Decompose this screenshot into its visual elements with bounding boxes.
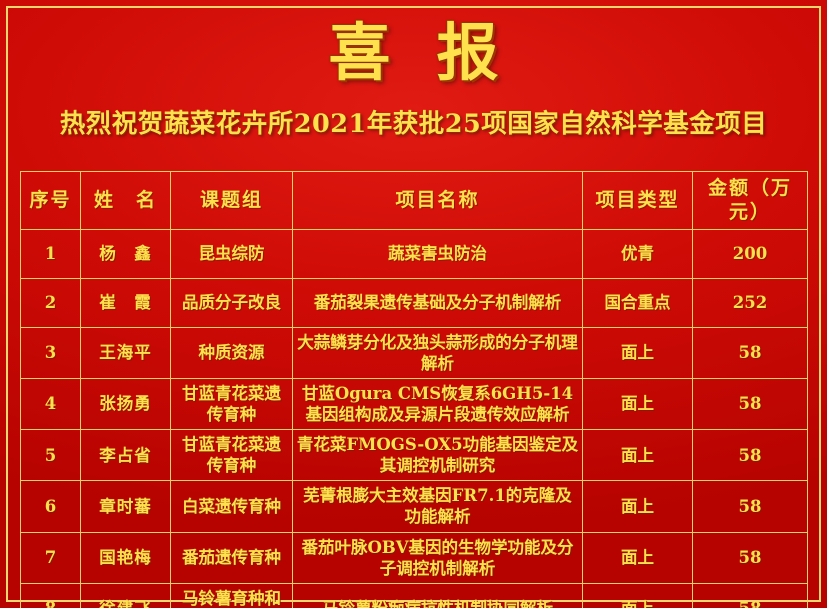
cell-type: 面上 (583, 327, 693, 378)
cell-no: 7 (21, 532, 81, 583)
cell-no: 6 (21, 481, 81, 532)
cell-type: 面上 (583, 430, 693, 481)
table-row: 6 章时蕃 白菜遗传育种 芜菁根膨大主效基因FR7.1的克隆及功能解析 面上 5… (21, 481, 808, 532)
table-row: 3 王海平 种质资源 大蒜鳞芽分化及独头蒜形成的分子机理解析 面上 58 (21, 327, 808, 378)
cell-name: 张扬勇 (81, 378, 171, 429)
cell-name: 崔 霞 (81, 278, 171, 327)
cell-amount: 58 (693, 481, 808, 532)
column-header-project: 项目名称 (293, 172, 583, 230)
page-subtitle: 热烈祝贺蔬菜花卉所2021年获批25项国家自然科学基金项目 (0, 103, 827, 140)
cell-amount: 58 (693, 430, 808, 481)
cell-type: 面上 (583, 583, 693, 608)
cell-type: 优青 (583, 229, 693, 278)
cell-group: 白菜遗传育种 (171, 481, 293, 532)
cell-project: 马铃薯粉痂病抗性机制协同解析 (293, 583, 583, 608)
cell-project: 番茄裂果遗传基础及分子机制解析 (293, 278, 583, 327)
cell-group: 品质分子改良 (171, 278, 293, 327)
table-row: 4 张扬勇 甘蓝青花菜遗传育种 甘蓝Ogura CMS恢复系6GH5-14基因组… (21, 378, 808, 429)
cell-amount: 58 (693, 378, 808, 429)
cell-no: 1 (21, 229, 81, 278)
cell-name: 杨 鑫 (81, 229, 171, 278)
column-header-name: 姓 名 (81, 172, 171, 230)
cell-group: 番茄遗传育种 (171, 532, 293, 583)
cell-no: 8 (21, 583, 81, 608)
cell-type: 国合重点 (583, 278, 693, 327)
table-row: 8 徐建飞 马铃薯育种和栽培 马铃薯粉痂病抗性机制协同解析 面上 58 (21, 583, 808, 608)
cell-project: 大蒜鳞芽分化及独头蒜形成的分子机理解析 (293, 327, 583, 378)
cell-type: 面上 (583, 481, 693, 532)
table-row: 2 崔 霞 品质分子改良 番茄裂果遗传基础及分子机制解析 国合重点 252 (21, 278, 808, 327)
cell-name: 章时蕃 (81, 481, 171, 532)
cell-name: 国艳梅 (81, 532, 171, 583)
cell-group: 甘蓝青花菜遗传育种 (171, 378, 293, 429)
cell-amount: 58 (693, 532, 808, 583)
cell-group: 种质资源 (171, 327, 293, 378)
cell-project: 甘蓝Ogura CMS恢复系6GH5-14基因组构成及异源片段遗传效应解析 (293, 378, 583, 429)
column-header-no: 序号 (21, 172, 81, 230)
cell-project: 番茄叶脉OBV基因的生物学功能及分子调控机制解析 (293, 532, 583, 583)
cell-name: 李占省 (81, 430, 171, 481)
cell-project: 青花菜FMOGS-OX5功能基因鉴定及其调控机制研究 (293, 430, 583, 481)
award-table: 序号 姓 名 课题组 项目名称 项目类型 金额（万元） 1 杨 鑫 昆虫综防 蔬… (20, 171, 808, 608)
column-header-group: 课题组 (171, 172, 293, 230)
cell-group: 昆虫综防 (171, 229, 293, 278)
cell-no: 2 (21, 278, 81, 327)
cell-no: 3 (21, 327, 81, 378)
table-row: 7 国艳梅 番茄遗传育种 番茄叶脉OBV基因的生物学功能及分子调控机制解析 面上… (21, 532, 808, 583)
cell-amount: 200 (693, 229, 808, 278)
cell-type: 面上 (583, 532, 693, 583)
table-header-row: 序号 姓 名 课题组 项目名称 项目类型 金额（万元） (21, 172, 808, 230)
column-header-type: 项目类型 (583, 172, 693, 230)
cell-type: 面上 (583, 378, 693, 429)
cell-name: 徐建飞 (81, 583, 171, 608)
table-row: 1 杨 鑫 昆虫综防 蔬菜害虫防治 优青 200 (21, 229, 808, 278)
cell-project: 蔬菜害虫防治 (293, 229, 583, 278)
award-poster: 喜报 热烈祝贺蔬菜花卉所2021年获批25项国家自然科学基金项目 序号 姓 名 … (0, 0, 827, 608)
award-table-container: 序号 姓 名 课题组 项目名称 项目类型 金额（万元） 1 杨 鑫 昆虫综防 蔬… (20, 171, 807, 608)
cell-no: 5 (21, 430, 81, 481)
cell-amount: 58 (693, 583, 808, 608)
title-area: 喜报 热烈祝贺蔬菜花卉所2021年获批25项国家自然科学基金项目 (0, 0, 827, 140)
cell-group: 马铃薯育种和栽培 (171, 583, 293, 608)
cell-amount: 58 (693, 327, 808, 378)
page-title: 喜报 (0, 16, 827, 89)
cell-group: 甘蓝青花菜遗传育种 (171, 430, 293, 481)
cell-no: 4 (21, 378, 81, 429)
cell-amount: 252 (693, 278, 808, 327)
cell-name: 王海平 (81, 327, 171, 378)
table-row: 5 李占省 甘蓝青花菜遗传育种 青花菜FMOGS-OX5功能基因鉴定及其调控机制… (21, 430, 808, 481)
cell-project: 芜菁根膨大主效基因FR7.1的克隆及功能解析 (293, 481, 583, 532)
column-header-amount: 金额（万元） (693, 172, 808, 230)
